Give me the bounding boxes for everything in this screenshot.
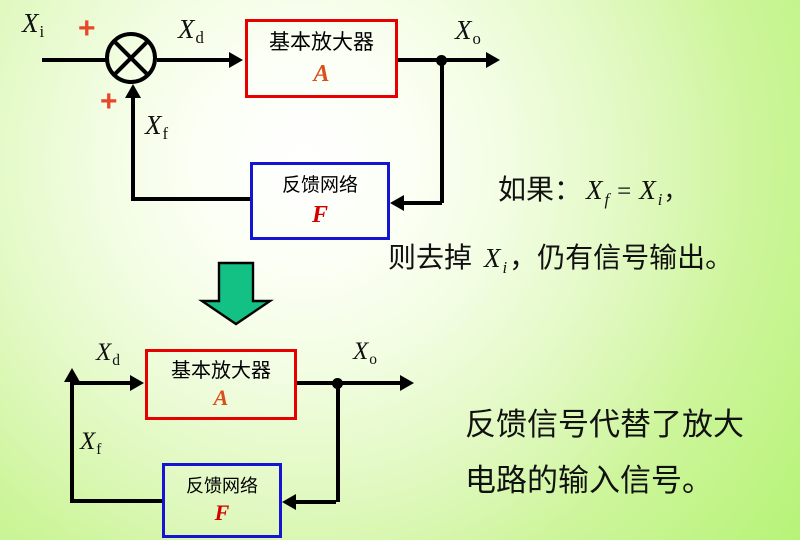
annotation-line1-prefix: 如果： (498, 168, 582, 208)
annotation-xi: Xi (639, 175, 662, 210)
output-arrowhead (486, 52, 500, 68)
label-xo-2: Xo (353, 338, 377, 369)
annotation-line2-suffix: ，仍有信号输出。 (509, 236, 733, 276)
slide-canvas: Xi + + Xd 基本放大器 A Xo 反馈网络 F (0, 0, 800, 540)
feedback-symbol-top: F (312, 203, 328, 227)
feedback-return-vertical (131, 97, 135, 201)
feedback-return-vertical-2 (70, 381, 74, 503)
feedback-return-horizontal (131, 197, 250, 201)
plus-sign-input: + (78, 12, 96, 46)
annotation-equals: = (617, 178, 631, 206)
label-xi: Xi (22, 8, 44, 42)
error-arrowhead-2 (130, 375, 144, 391)
amplifier-block-top[interactable]: 基本放大器 A (245, 19, 398, 98)
error-arrowhead (229, 52, 243, 68)
amplifier-title-top: 基本放大器 (269, 32, 374, 53)
output-tap-vertical-2 (336, 381, 340, 502)
feedback-input-arrowhead (390, 195, 404, 211)
annotation-xi-2: Xi (484, 243, 507, 278)
feedback-title-top: 反馈网络 (282, 176, 358, 195)
feedback-input-arrowhead-2 (282, 494, 296, 510)
annotation-line-1: 如果： Xf = Xi ， (498, 168, 687, 210)
input-wire (42, 58, 106, 62)
down-arrow-icon (198, 261, 274, 327)
annotation-line-4: 电路的输入信号。 (465, 455, 713, 500)
annotation-line2-prefix: 则去掉 (388, 236, 472, 276)
output-tap-vertical (440, 58, 444, 203)
output-wire-2 (297, 381, 402, 385)
feedback-symbol-bottom: F (215, 502, 230, 524)
amplifier-symbol-bottom: A (214, 387, 229, 409)
label-xf: Xf (145, 110, 168, 144)
feedback-return-arrowhead (125, 84, 141, 98)
label-xd: Xd (178, 14, 204, 48)
label-xd-2: Xd (96, 339, 120, 370)
error-wire (157, 58, 231, 62)
label-xf-2: Xf (80, 428, 101, 459)
output-arrowhead-2 (400, 375, 414, 391)
annotation-line-2: 则去掉 Xi ，仍有信号输出。 (388, 236, 733, 278)
feedback-title-bottom: 反馈网络 (186, 478, 258, 496)
feedback-return-arrowhead-2 (64, 368, 80, 382)
summing-node (105, 32, 157, 84)
feedback-block-bottom[interactable]: 反馈网络 F (162, 463, 282, 538)
plus-sign-feedback: + (100, 85, 118, 119)
annotation-line1-suffix: ， (663, 171, 687, 206)
feedback-return-horizontal-2 (70, 499, 162, 503)
annotation-line-3: 反馈信号代替了放大 (465, 399, 744, 444)
feedback-block-top[interactable]: 反馈网络 F (250, 162, 390, 240)
annotation-xf: Xf (586, 175, 609, 210)
amplifier-title-bottom: 基本放大器 (171, 360, 271, 380)
amplifier-symbol-top: A (313, 62, 329, 86)
amplifier-block-bottom[interactable]: 基本放大器 A (145, 349, 297, 420)
label-xo: Xo (455, 15, 481, 49)
